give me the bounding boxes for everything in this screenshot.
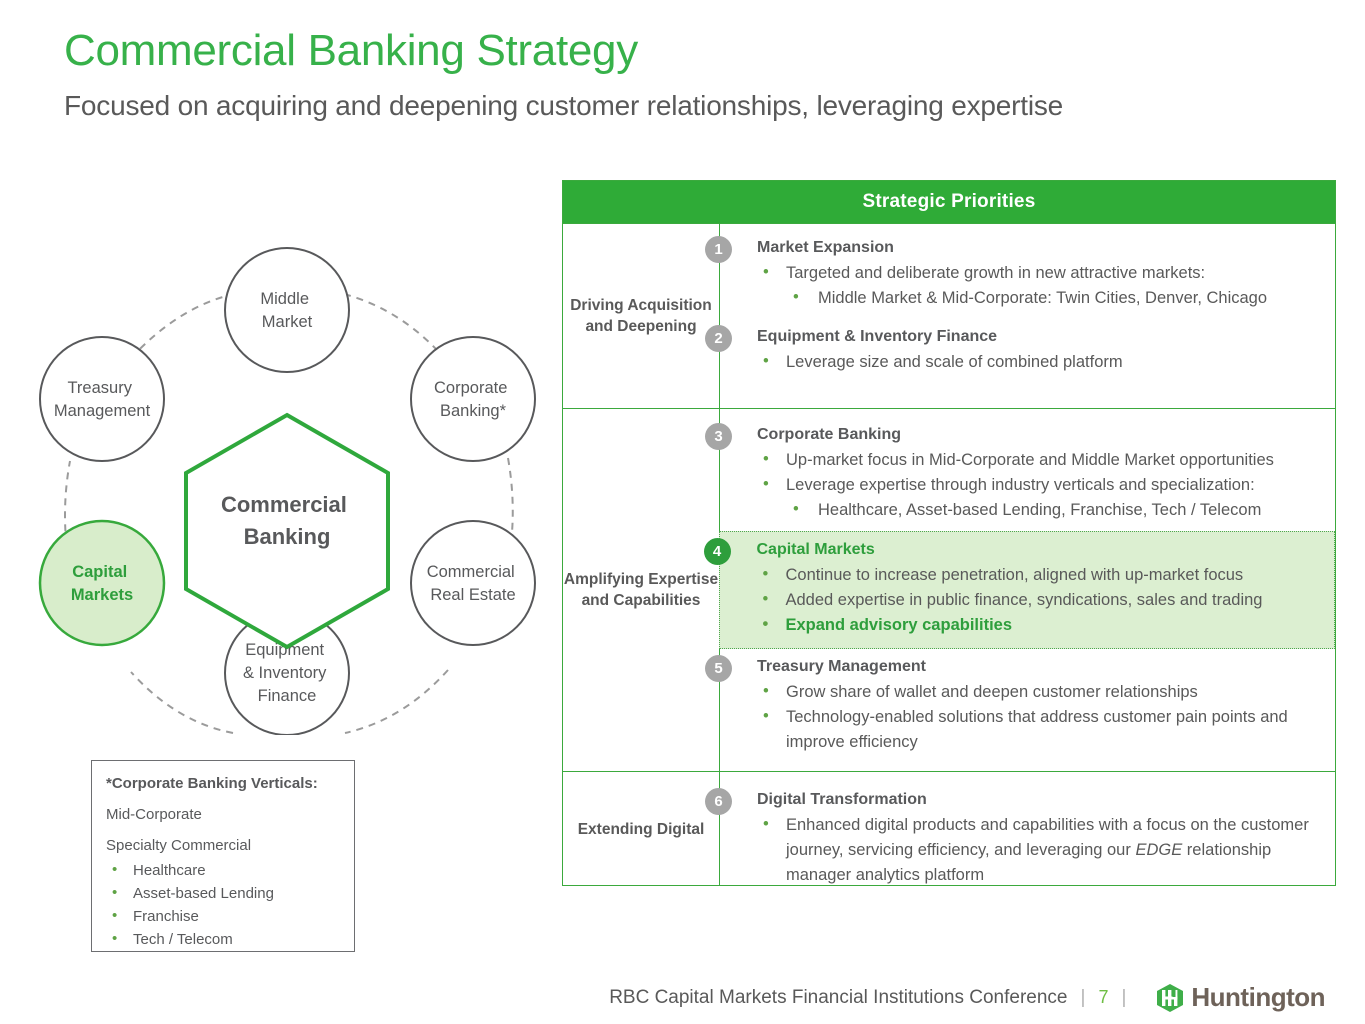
priority-section-extending-digital: Extending Digital 6 Digital Transformati… [563, 771, 1335, 886]
priority-bullets: Leverage size and scale of combined plat… [730, 350, 1325, 375]
priority-title-treasury-management: Treasury Management [730, 655, 1325, 679]
priority-bullets: Targeted and deliberate growth in new at… [730, 261, 1325, 311]
priority-bullets: Enhanced digital products and capabiliti… [730, 813, 1325, 888]
node-circle-corporate-banking [411, 337, 535, 461]
node-circle-commercial-real-estate [411, 521, 535, 645]
commercial-banking-diagram: Middle Market Corporate Banking* Commerc… [18, 230, 563, 735]
huntington-wordmark: Huntington [1191, 982, 1325, 1013]
priority-section-amplifying-expertise: Amplifying Expertise and Capabilities 3 … [563, 408, 1335, 771]
priority-block-corporate-banking: 3 Corporate Banking Up-market focus in M… [720, 409, 1335, 531]
corporate-banking-verticals-note: *Corporate Banking Verticals: Mid-Corpor… [91, 760, 355, 952]
list-item: Up-market focus in Mid-Corporate and Mid… [730, 448, 1325, 473]
list-item: Leverage expertise through industry vert… [730, 473, 1325, 498]
section-label-extending-digital: Extending Digital [563, 772, 720, 886]
list-item: Expand advisory capabilities [730, 613, 1325, 638]
priority-badge-4: 4 [704, 538, 731, 565]
footnote-title: *Corporate Banking Verticals: [106, 775, 340, 792]
section-label-amplifying-expertise: Amplifying Expertise and Capabilities [563, 409, 720, 771]
priority-title-market-expansion: Market Expansion [730, 236, 1325, 260]
list-item: Middle Market & Mid-Corporate: Twin Citi… [730, 286, 1325, 311]
section-label-text: Amplifying Expertise and Capabilities [563, 569, 719, 611]
list-item: Leverage size and scale of combined plat… [730, 350, 1325, 375]
strategic-priorities-header: Strategic Priorities [563, 181, 1335, 223]
priority-badge-3: 3 [705, 423, 732, 450]
footnote-list: Healthcare Asset-based Lending Franchise… [106, 859, 340, 951]
node-circle-middle-market [225, 248, 349, 372]
footer-conference-name: RBC Capital Markets Financial Institutio… [609, 987, 1067, 1009]
slide-footer: RBC Capital Markets Financial Institutio… [0, 975, 1365, 1020]
priority-bullets: Up-market focus in Mid-Corporate and Mid… [730, 448, 1325, 523]
priority-title-equipment-inventory-finance: Equipment & Inventory Finance [730, 325, 1325, 349]
diagram-svg: Middle Market Corporate Banking* Commerc… [18, 230, 563, 735]
huntington-logo: Huntington [1155, 982, 1325, 1013]
priority-badge-2: 2 [705, 325, 732, 352]
footnote-line-mid-corporate: Mid-Corporate [106, 806, 340, 823]
list-item: Healthcare, Asset-based Lending, Franchi… [730, 498, 1325, 523]
list-item: Targeted and deliberate growth in new at… [730, 261, 1325, 286]
footnote-line-specialty-commercial: Specialty Commercial [106, 837, 340, 854]
priority-title-corporate-banking: Corporate Banking [730, 423, 1325, 447]
section-label-text: Driving Acquisition and Deepening [563, 295, 719, 337]
strategic-priorities-table: Strategic Priorities Driving Acquisition… [562, 180, 1336, 886]
priority-block-market-expansion: 1 Market Expansion Targeted and delibera… [720, 224, 1335, 319]
huntington-hexagon-mark-icon [1155, 983, 1185, 1013]
section-label-text: Extending Digital [578, 819, 705, 840]
footer-separator-right: | [1121, 987, 1126, 1009]
priority-badge-6: 6 [705, 788, 732, 815]
priority-bullets: Grow share of wallet and deepen customer… [730, 680, 1325, 755]
priority-bullets: Continue to increase penetration, aligne… [730, 563, 1325, 638]
priority-block-capital-markets-highlighted[interactable]: 4 Capital Markets Continue to increase p… [719, 531, 1336, 649]
priority-section-driving-acquisition: Driving Acquisition and Deepening 1 Mark… [563, 223, 1335, 408]
node-circle-capital-markets[interactable] [40, 521, 164, 645]
priority-badge-5: 5 [705, 655, 732, 682]
page-title: Commercial Banking Strategy [64, 26, 638, 76]
connector-cre-equipment [345, 670, 448, 733]
connector-equipment-capital [131, 672, 233, 733]
priority-title-digital-transformation: Digital Transformation [730, 788, 1325, 812]
list-item: Franchise [106, 905, 340, 928]
priority-block-digital-transformation: 6 Digital Transformation Enhanced digita… [720, 772, 1335, 896]
connector-middle-corporate [344, 294, 446, 360]
list-item: Tech / Telecom [106, 928, 340, 951]
footer-separator-left: | [1081, 987, 1086, 1009]
list-item: Healthcare [106, 859, 340, 882]
list-item: Enhanced digital products and capabiliti… [730, 813, 1325, 888]
node-circle-treasury-management [40, 337, 164, 461]
footer-page-number: 7 [1098, 987, 1108, 1008]
section-label-driving-acquisition: Driving Acquisition and Deepening [563, 224, 720, 408]
connector-treasury-middle [131, 295, 230, 358]
priority-badge-1: 1 [705, 236, 732, 263]
page-subtitle: Focused on acquiring and deepening custo… [64, 88, 1063, 124]
list-item: Asset-based Lending [106, 882, 340, 905]
priority-block-equipment-inventory-finance: 2 Equipment & Inventory Finance Leverage… [720, 319, 1335, 383]
priority-title-capital-markets: Capital Markets [730, 538, 1325, 562]
list-item: Grow share of wallet and deepen customer… [730, 680, 1325, 705]
list-item: Technology-enabled solutions that addres… [730, 705, 1325, 755]
list-item: Continue to increase penetration, aligne… [730, 563, 1325, 588]
priority-block-treasury-management: 5 Treasury Management Grow share of wall… [720, 649, 1335, 763]
list-item: Added expertise in public finance, syndi… [730, 588, 1325, 613]
